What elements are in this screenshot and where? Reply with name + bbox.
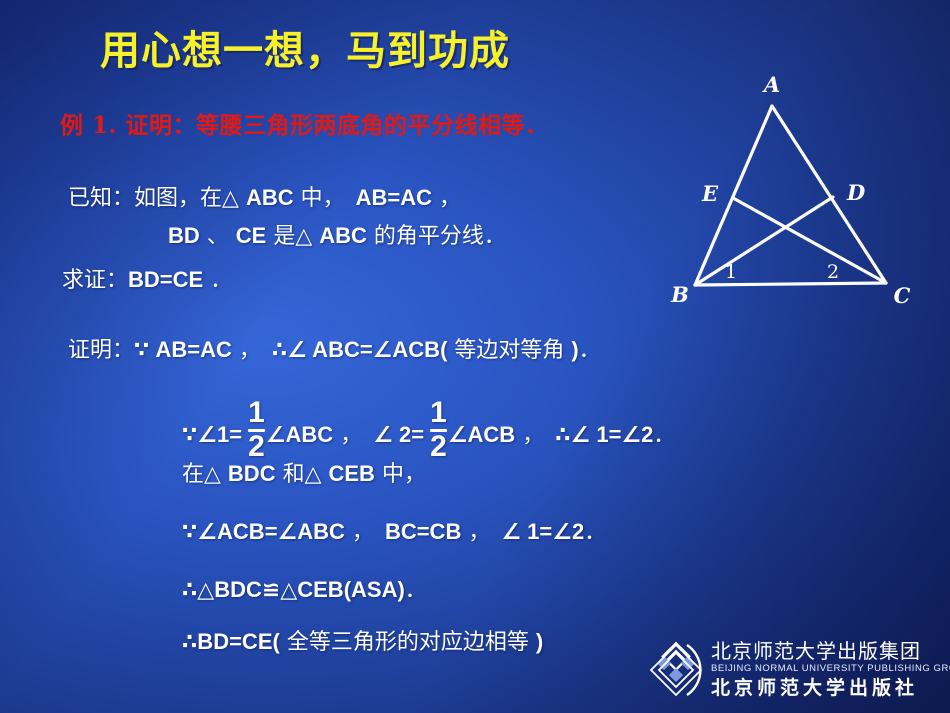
proof-step-3: 在△ BDC 和△ CEB 中， — [182, 456, 426, 488]
proof1-ab-ac: AB=AC — [149, 337, 232, 362]
given-bd: BD — [168, 223, 200, 248]
proof-step-1: 证明：∵ AB=AC ， ∴∠ ABC=∠ACB( 等边对等角 )． — [68, 332, 601, 364]
fraction-denominator-b: 2 — [430, 433, 447, 462]
segment-BC — [695, 283, 886, 285]
proof2-angle-abc: ∠ABC — [266, 422, 333, 447]
prove-statement: BD=CE — [128, 267, 203, 292]
publisher-name-cn: 北京师范大学出版集团 — [711, 641, 950, 661]
proof5-period: ． — [405, 578, 427, 603]
proof6-bd-ce: ∴BD=CE( — [182, 629, 280, 654]
publisher-press-cn: 北京师范大学出版社 — [711, 679, 950, 698]
segment-AC — [772, 106, 886, 283]
proof1-sep: ， — [232, 338, 272, 363]
proof2-angle-acb: ∠ACB — [448, 422, 515, 447]
given-line-2: BD 、 CE 是△ ABC 的角平分线． — [168, 218, 506, 250]
prove-line: 求证：BD=CE ． — [62, 262, 232, 294]
given-text-f: 的角平分线． — [367, 224, 506, 249]
given-label: 已知： — [68, 186, 134, 211]
proof6-reason: 全等三角形的对应边相等 — [280, 630, 536, 655]
proof4-bc-cb: BC=CB — [385, 519, 461, 544]
given-sep-1: 、 — [200, 224, 236, 249]
fraction-one-half-a: 12 — [248, 399, 265, 462]
proof3-bdc: BDC — [228, 461, 276, 486]
given-text-a: 如图，在△ — [134, 186, 246, 211]
proof2-sep-2: ， — [515, 423, 555, 448]
angle-label-2: 2 — [827, 261, 839, 283]
proof4-sep-1: ， — [345, 520, 385, 545]
because-symbol-1: ∵ — [134, 337, 149, 362]
proof1-reason: 等边对等角 — [447, 338, 571, 363]
proof3-ceb: CEB — [329, 461, 375, 486]
proof2-sep-1: ， — [333, 423, 373, 448]
proof1-angles: ∠ ABC=∠ACB( — [287, 337, 447, 362]
given-text-d: 是△ — [266, 224, 319, 249]
proof2-conclusion: ∠ 1=∠2 — [571, 422, 654, 447]
proof4-period: ． — [584, 520, 606, 545]
fraction-one-half-b: 12 — [430, 399, 447, 462]
angle-label-1: 1 — [725, 261, 737, 283]
proof5-congruence: ∴△BDC≌△CEB(ASA) — [182, 577, 405, 602]
given-line-1: 已知：如图，在△ ABC 中， AB=AC ， — [68, 180, 461, 212]
publisher-name-en: BEIJING NORMAL UNIVERSITY PUBLISHING GRO… — [711, 664, 950, 674]
proof-step-6: ∴BD=CE( 全等三角形的对应边相等 ) — [182, 624, 543, 656]
fraction-numerator-b: 1 — [430, 399, 447, 428]
proof6-paren: ) — [536, 629, 543, 654]
proof4-angle-1-2: ∠ 1=∠2 — [501, 519, 584, 544]
proof-step-2: ∵∠1=12∠ABC ， ∠ 2=12∠ACB ， ∴∠ 1=∠2． — [182, 398, 675, 461]
given-abc-1: ABC — [246, 185, 294, 210]
proof2-period: ． — [653, 423, 675, 448]
given-text-c: 中， — [294, 186, 356, 211]
vertex-label-B: B — [670, 282, 689, 307]
triangle-diagram-svg: A B C D E 1 2 — [650, 70, 950, 315]
publisher-logo: 北京师范大学出版集团 BEIJING NORMAL UNIVERSITY PUB… — [645, 626, 950, 713]
given-text-e: ， — [432, 186, 461, 211]
given-ab-ac: AB=AC — [356, 185, 432, 210]
therefore-symbol-1: ∴ — [272, 337, 287, 362]
vertex-label-E: E — [701, 181, 719, 206]
vertex-label-C: C — [894, 283, 911, 308]
proof3-text-e: 中， — [375, 462, 426, 487]
proof1-paren: ) — [571, 337, 578, 362]
proof3-text-a: 在△ — [182, 462, 228, 487]
because-angle-1: ∵∠1= — [182, 422, 242, 447]
publisher-text: 北京师范大学出版集团 BEIJING NORMAL UNIVERSITY PUB… — [711, 641, 950, 698]
prove-period: ． — [203, 268, 232, 293]
given-abc-2: ABC — [319, 223, 367, 248]
page-title: 用心想一想，马到功成 — [100, 18, 510, 76]
vertex-label-A: A — [762, 72, 780, 97]
slide-canvas: 用心想一想，马到功成 例 1. 证明：等腰三角形两底角的平分线相等． 已知：如图… — [0, 0, 950, 713]
proof4-sep-2: ， — [461, 520, 501, 545]
proof-label: 证明： — [68, 338, 134, 363]
proof3-text-c: 和△ — [276, 462, 329, 487]
proof-step-4: ∵∠ACB=∠ABC ， BC=CB ， ∠ 1=∠2． — [182, 514, 606, 546]
publisher-emblem-icon — [645, 639, 707, 701]
prove-label: 求证： — [62, 268, 128, 293]
therefore-symbol-2: ∴ — [555, 422, 570, 447]
proof4-angles: ∵∠ACB=∠ABC — [182, 519, 345, 544]
proof2-angle-2: ∠ 2= — [373, 422, 424, 447]
proof-step-5: ∴△BDC≌△CEB(ASA)． — [182, 572, 427, 604]
vertex-label-D: D — [846, 180, 866, 205]
proof1-period: ． — [579, 338, 601, 363]
triangle-diagram: A B C D E 1 2 — [650, 70, 950, 315]
example-statement: 例 1. 证明：等腰三角形两底角的平分线相等． — [60, 106, 549, 140]
fraction-numerator-a: 1 — [248, 399, 265, 428]
given-ce: CE — [236, 223, 267, 248]
